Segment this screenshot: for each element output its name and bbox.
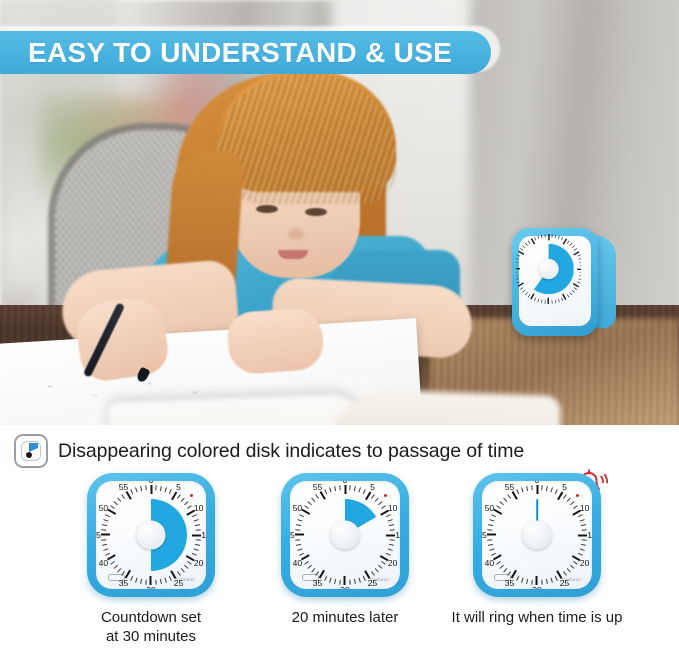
dial-number: 35 [119,578,128,588]
photo-timer-shell [512,228,598,336]
timer-dial: 0510152025303540455055 [295,485,395,585]
timer-device: Yunbaoit 0510152025303540455055 [87,473,215,597]
dial-number: 40 [99,558,108,568]
girl-nose [288,228,304,240]
dial-number: 20 [194,558,203,568]
card-caption: Countdown set at 30 minutes [46,609,256,647]
dial-number: 30 [532,585,541,589]
dial-number: 40 [485,558,494,568]
girl-mouth [278,250,308,259]
dial-number: 20 [388,558,397,568]
timer-icon-hub [26,452,32,458]
dial-number: 25 [174,578,183,588]
timer-card-time-is-up: Yunbaoit 0510152025303540455055 It will … [432,473,642,628]
timer-face: Yunbaoit 0510152025303540455055 [482,481,592,589]
headline-row: Disappearing colored disk indicates to p… [14,434,524,468]
photo-timer-device [512,228,612,340]
dial-number: 10 [580,503,589,513]
dial-number: 15 [587,530,592,540]
photo-timer-face [519,236,591,326]
headline-text: Disappearing colored disk indicates to p… [58,440,524,463]
girl-eye-right [305,208,327,216]
dial-number: 15 [395,530,400,540]
dial-number: 55 [119,482,128,492]
photo-hub [538,259,558,279]
dial-number: 0 [343,481,348,485]
dial-number: 20 [580,558,589,568]
dial-number: 35 [505,578,514,588]
timer-device: Yunbaoit 0510152025303540455055 [473,473,601,597]
dial-number: 0 [535,481,540,485]
dial-number: 55 [313,482,322,492]
card-caption: It will ring when time is up [432,609,642,628]
dial-number: 50 [293,503,302,513]
explainer-section: Disappearing colored disk indicates to p… [0,425,679,655]
dial-number: 55 [505,482,514,492]
product-infographic: EASY TO UNDERSTAND & USE Disappearing co… [0,0,679,655]
timer-face: Yunbaoit 0510152025303540455055 [290,481,400,589]
dial-number: 10 [388,503,397,513]
dial-number: 25 [368,578,377,588]
dial-number: 0 [149,481,154,485]
dial-number: 50 [485,503,494,513]
timer-card-20-minutes-later: Yunbaoit 0510152025303540455055 20 minut… [240,473,450,628]
dial-number: 15 [201,530,206,540]
dial-number: 5 [370,482,375,492]
timer-dial: 0510152025303540455055 [101,485,201,585]
timer-icon-wedge [29,443,38,452]
timer-icon [14,434,48,468]
photo-dial [516,234,580,304]
dial-number: 45 [290,530,295,540]
timer-card-list: Yunbaoit 0510152025303540455055 Countdow… [0,473,679,655]
headline-banner: EASY TO UNDERSTAND & USE [0,31,491,74]
card-caption: 20 minutes later [240,609,450,628]
banner-title: EASY TO UNDERSTAND & USE [0,37,452,69]
timer-hub [137,521,166,550]
dial-number: 5 [176,482,181,492]
timer-device: Yunbaoit 0510152025303540455055 [281,473,409,597]
dial-number: 25 [560,578,569,588]
girl-eye-left [256,205,278,213]
timer-hub [331,521,360,550]
dial-number: 10 [194,503,203,513]
timer-dial: 0510152025303540455055 [487,485,587,585]
girl-hand-right [226,307,325,375]
dial-number: 45 [96,530,101,540]
dial-number: 35 [313,578,322,588]
dial-number: 30 [146,585,155,589]
timer-hub [523,521,552,550]
dial-number: 30 [340,585,349,589]
dial-number: 40 [293,558,302,568]
dial-number: 45 [482,530,487,540]
timer-face: Yunbaoit 0510152025303540455055 [96,481,206,589]
dial-number: 50 [99,503,108,513]
dial-number: 5 [562,482,567,492]
timer-card-countdown-30: Yunbaoit 0510152025303540455055 Countdow… [46,473,256,647]
